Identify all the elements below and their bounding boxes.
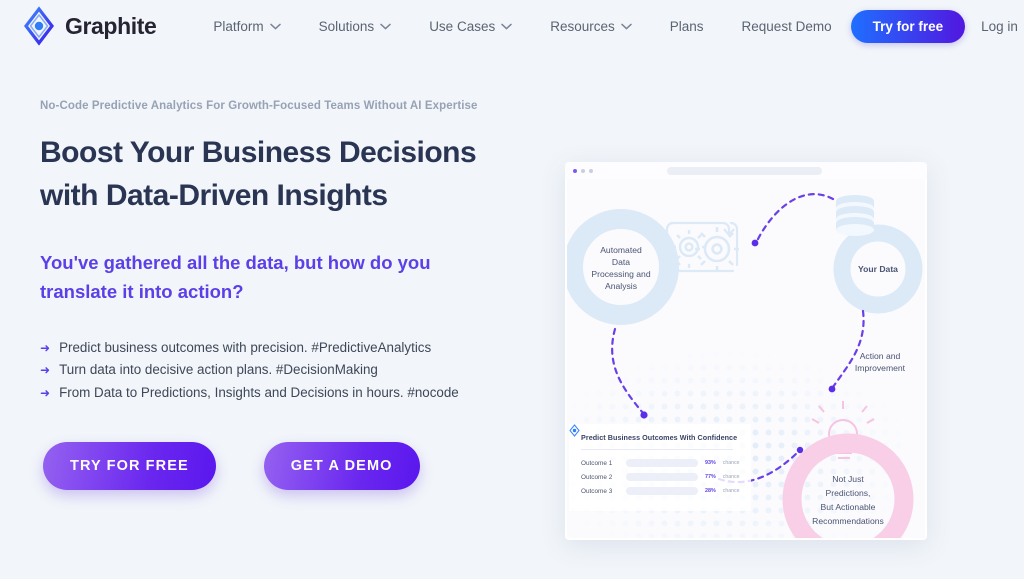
list-item: ➜ Turn data into decisive action plans. … <box>40 359 540 382</box>
confidence-bar-track <box>626 473 698 481</box>
hero-illustration: Automated Data Processing and Analysis Y… <box>560 100 1024 579</box>
get-a-demo-button[interactable]: GET A DEMO <box>264 442 420 490</box>
gear-large-icon <box>695 227 739 271</box>
node-label-automated: Automated <box>600 245 642 255</box>
hero-bullet-list: ➜ Predict business outcomes with precisi… <box>40 337 540 405</box>
chevron-down-icon <box>380 23 391 30</box>
nav-item-resources[interactable]: Resources <box>531 13 651 40</box>
divider <box>581 449 733 450</box>
node-label-automated: Processing and <box>591 269 650 279</box>
arrow-bullet-icon: ➜ <box>40 338 50 358</box>
outcome-percent: 28% <box>705 488 716 494</box>
arrow-bullet-icon: ➜ <box>40 383 50 403</box>
confidence-bar-track <box>626 459 698 467</box>
node-label-recommendations: Not Just <box>832 474 864 484</box>
table-row: Outcome 3 28% chance <box>581 487 751 495</box>
list-item-text: From Data to Predictions, Insights and D… <box>59 382 459 405</box>
nav-item-label: Request Demo <box>742 19 832 34</box>
page-title: Boost Your Business Decisions with Data-… <box>40 132 540 217</box>
nav-item-use-cases[interactable]: Use Cases <box>410 13 531 40</box>
list-item: ➜ Predict business outcomes with precisi… <box>40 337 540 360</box>
chevron-down-icon <box>270 23 281 30</box>
nav-actions: Try for free Log in <box>851 10 1018 43</box>
outcome-suffix: chance <box>723 474 740 480</box>
nav-item-label: Resources <box>550 19 615 34</box>
window-dot-icon <box>573 169 577 173</box>
nav-item-label: Solutions <box>319 19 375 34</box>
arrow-bullet-icon: ➜ <box>40 360 50 380</box>
nav-links: Platform Solutions Use Cases Resources P <box>194 13 850 40</box>
node-label-action: Improvement <box>855 363 906 373</box>
diagram-canvas: Automated Data Processing and Analysis Y… <box>567 179 925 538</box>
brand-logo[interactable]: Graphite <box>22 6 156 46</box>
confidence-bar-track <box>626 487 698 495</box>
nav-item-label: Plans <box>670 19 704 34</box>
outcome-suffix: chance <box>723 488 740 494</box>
nav-item-label: Use Cases <box>429 19 495 34</box>
outcome-suffix: chance <box>723 460 740 466</box>
node-label-recommendations: Predictions, <box>826 488 871 498</box>
automated-processing-ring <box>573 219 669 315</box>
top-navigation-bar: Graphite Platform Solutions Use Cases Re… <box>0 0 1024 52</box>
outcomes-card-title: Predict Business Outcomes With Confidenc… <box>581 433 751 442</box>
log-in-link[interactable]: Log in <box>981 19 1018 34</box>
graphite-diamond-logo-icon <box>569 424 580 437</box>
node-label-action: Action and <box>860 351 901 361</box>
outcome-label: Outcome 2 <box>581 474 619 481</box>
hero-eyebrow: No-Code Predictive Analytics For Growth-… <box>40 100 540 112</box>
node-label-recommendations: Recommendations <box>812 516 884 526</box>
browser-mockup: Automated Data Processing and Analysis Y… <box>565 162 927 540</box>
node-label-recommendations: But Actionable <box>821 502 876 512</box>
node-label-automated: Analysis <box>605 281 637 291</box>
browser-url-bar <box>667 167 822 175</box>
outcome-percent: 93% <box>705 460 716 466</box>
chevron-down-icon <box>501 23 512 30</box>
hero-cta-row: TRY FOR FREE GET A DEMO <box>40 442 540 490</box>
nav-item-label: Platform <box>213 19 263 34</box>
list-item-text: Turn data into decisive action plans. #D… <box>59 359 378 382</box>
browser-titlebar <box>565 162 927 179</box>
outcomes-card: Predict Business Outcomes With Confidenc… <box>569 424 751 511</box>
table-row: Outcome 2 77% chance <box>581 473 751 481</box>
nav-item-request-demo[interactable]: Request Demo <box>723 13 851 40</box>
outcome-label: Outcome 3 <box>581 488 619 495</box>
node-label-your-data: Your Data <box>858 264 898 274</box>
list-item-text: Predict business outcomes with precision… <box>59 337 431 360</box>
nav-item-platform[interactable]: Platform <box>194 13 299 40</box>
chevron-down-icon <box>621 23 632 30</box>
brand-name: Graphite <box>65 13 156 40</box>
outcome-percent: 77% <box>705 474 716 480</box>
hero-section: No-Code Predictive Analytics For Growth-… <box>0 52 1024 579</box>
nav-item-solutions[interactable]: Solutions <box>300 13 411 40</box>
graphite-diamond-logo-icon <box>22 6 56 46</box>
node-label-automated: Data <box>612 257 630 267</box>
table-row: Outcome 1 93% chance <box>581 459 751 467</box>
outcome-label: Outcome 1 <box>581 460 619 467</box>
window-dot-icon <box>581 169 585 173</box>
hero-subheading: You've gathered all the data, but how do… <box>40 249 470 306</box>
list-item: ➜ From Data to Predictions, Insights and… <box>40 382 540 405</box>
nav-item-plans[interactable]: Plans <box>651 13 723 40</box>
hero-copy: No-Code Predictive Analytics For Growth-… <box>0 100 560 579</box>
try-for-free-button[interactable]: TRY FOR FREE <box>43 442 216 490</box>
window-dot-icon <box>589 169 593 173</box>
database-cylinder-icon <box>836 195 874 236</box>
try-for-free-nav-button[interactable]: Try for free <box>851 10 966 43</box>
